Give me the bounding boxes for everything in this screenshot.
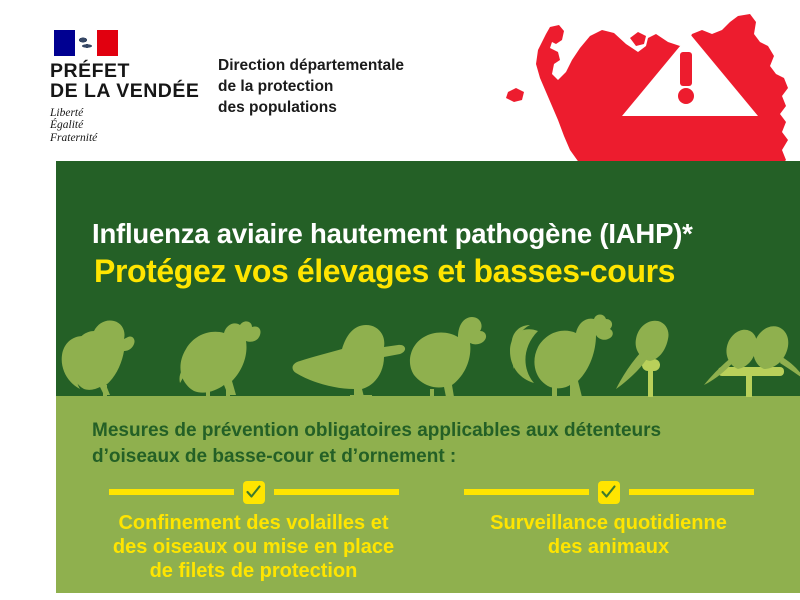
- hen-silhouette: [179, 321, 260, 397]
- measures-panel: Mesures de prévention obligatoires appli…: [56, 403, 800, 593]
- department-line-1: Direction départementale: [218, 55, 448, 76]
- duck-silhouette: [293, 325, 406, 399]
- measure-item-2: Surveillance quotidienne des animaux: [431, 479, 786, 583]
- measures-intro-line2: d’oiseaux de basse-cour et d’ornement :: [92, 444, 782, 470]
- measure-1-line1: Confinement des volailles et: [76, 511, 431, 535]
- poster-root: PRÉFET DE LA VENDÉE Liberté Égalité Frat…: [0, 0, 800, 600]
- prefecture-logo: PRÉFET DE LA VENDÉE Liberté Égalité Frat…: [50, 30, 200, 144]
- measure-divider-1: [76, 479, 431, 505]
- department-name: Direction départementale de la protectio…: [218, 55, 448, 118]
- parakeet-on-perch-silhouette: [642, 359, 660, 397]
- motto-egalite: Égalité: [50, 119, 200, 131]
- measure-2-line2: des animaux: [431, 535, 786, 559]
- main-banner: Influenza aviaire hautement pathogène (I…: [56, 161, 800, 403]
- measure-2-line1: Surveillance quotidienne: [431, 511, 786, 535]
- bird-silhouettes: [56, 311, 800, 403]
- divider-dash-right: [629, 489, 754, 495]
- rooster-silhouette: [510, 315, 613, 398]
- republic-motto: Liberté Égalité Fraternité: [50, 107, 200, 144]
- measures-intro: Mesures de prévention obligatoires appli…: [92, 418, 782, 470]
- motto-fraternite: Fraternité: [50, 132, 200, 144]
- measure-1-line3: de filets de protection: [76, 559, 431, 583]
- header: PRÉFET DE LA VENDÉE Liberté Égalité Frat…: [0, 0, 800, 162]
- banner-subheading: Protégez vos élevages et basses-cours: [94, 253, 675, 290]
- french-flag-icon: [54, 30, 118, 56]
- vendee-department-map: [506, 0, 800, 186]
- divider-dash-left: [109, 489, 234, 495]
- measure-item-1: Confinement des volailles et des oiseaux…: [76, 479, 431, 583]
- divider-dash-right: [274, 489, 399, 495]
- alert-block: VIGILANCE Epizootie grippe aviaire: [506, 0, 800, 186]
- logo-title-line1: PRÉFET: [50, 61, 200, 81]
- measure-text-2: Surveillance quotidienne des animaux: [431, 511, 786, 559]
- measure-divider-2: [431, 479, 786, 505]
- motto-liberte: Liberté: [50, 107, 200, 119]
- guinea-fowl-silhouette: [410, 317, 486, 397]
- logo-title-line2: DE LA VENDÉE: [50, 81, 200, 101]
- checkbox-checked-icon: [598, 481, 620, 504]
- measures-list: Confinement des volailles et des oiseaux…: [76, 479, 786, 583]
- turkey-silhouette: [62, 320, 135, 397]
- department-line-2: de la protection: [218, 76, 448, 97]
- banner-heading: Influenza aviaire hautement pathogène (I…: [92, 218, 693, 250]
- two-birds-on-perch-silhouette: [718, 367, 784, 397]
- measure-text-1: Confinement des volailles et des oiseaux…: [76, 511, 431, 583]
- department-line-3: des populations: [218, 97, 448, 118]
- divider-dash-left: [464, 489, 589, 495]
- measures-intro-line1: Mesures de prévention obligatoires appli…: [92, 418, 782, 444]
- checkbox-checked-icon: [243, 481, 265, 504]
- measure-1-line2: des oiseaux ou mise en place: [76, 535, 431, 559]
